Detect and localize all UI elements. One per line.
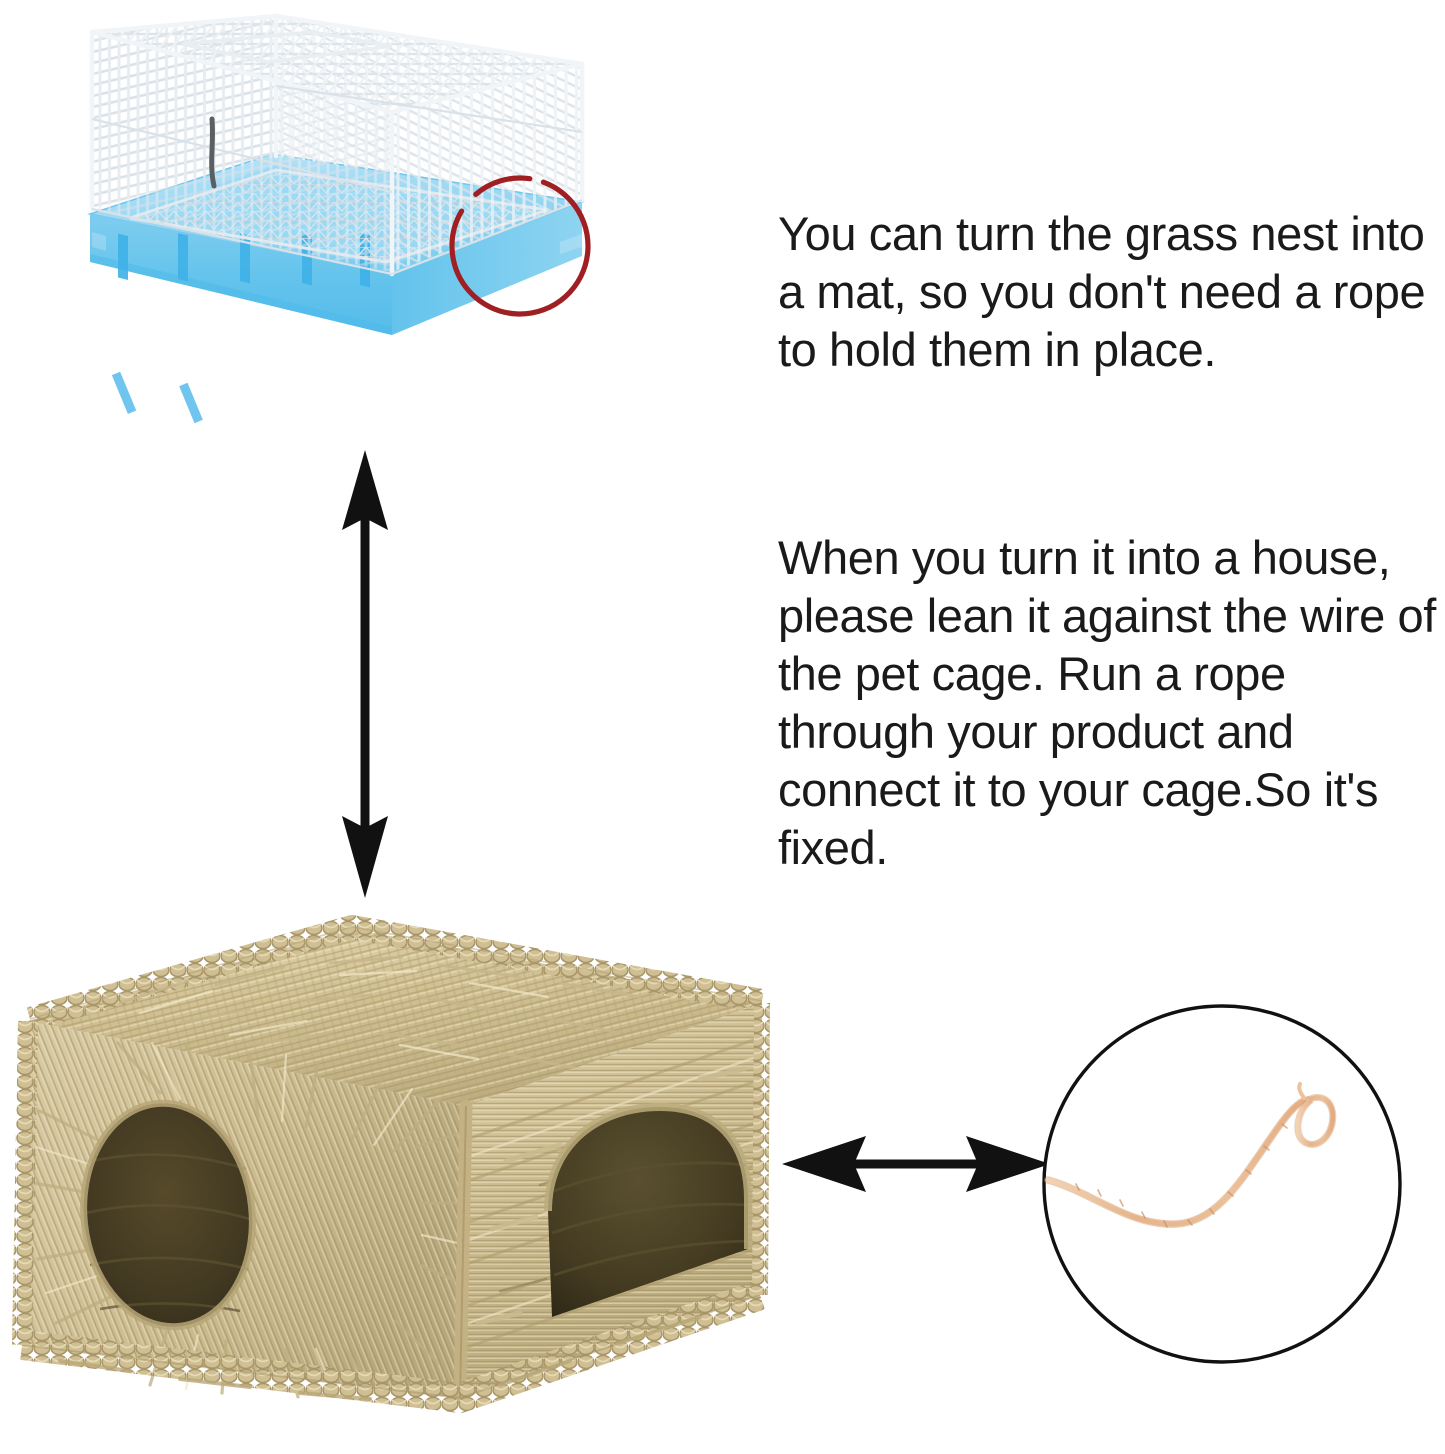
rope-detail-circle <box>1036 1000 1408 1368</box>
instruction-text-mat: You can turn the grass nest into a mat, … <box>778 205 1438 379</box>
instruction-text-house: When you turn it into a house, please le… <box>778 529 1443 877</box>
house-right-edge-braid <box>760 1003 762 1295</box>
grass-nest-house-illustration <box>0 893 780 1454</box>
house-front-corner <box>460 1106 466 1398</box>
cage-latch-hook <box>212 119 214 186</box>
house-left-edge-braid <box>22 1021 28 1345</box>
vertical-transform-arrow <box>322 448 408 900</box>
horizontal-connect-arrow <box>780 1116 1052 1212</box>
detail-circle-outline <box>1044 1006 1400 1362</box>
infographic-page: You can turn the grass nest into a mat, … <box>0 0 1445 1454</box>
pet-cage-illustration <box>62 4 682 428</box>
